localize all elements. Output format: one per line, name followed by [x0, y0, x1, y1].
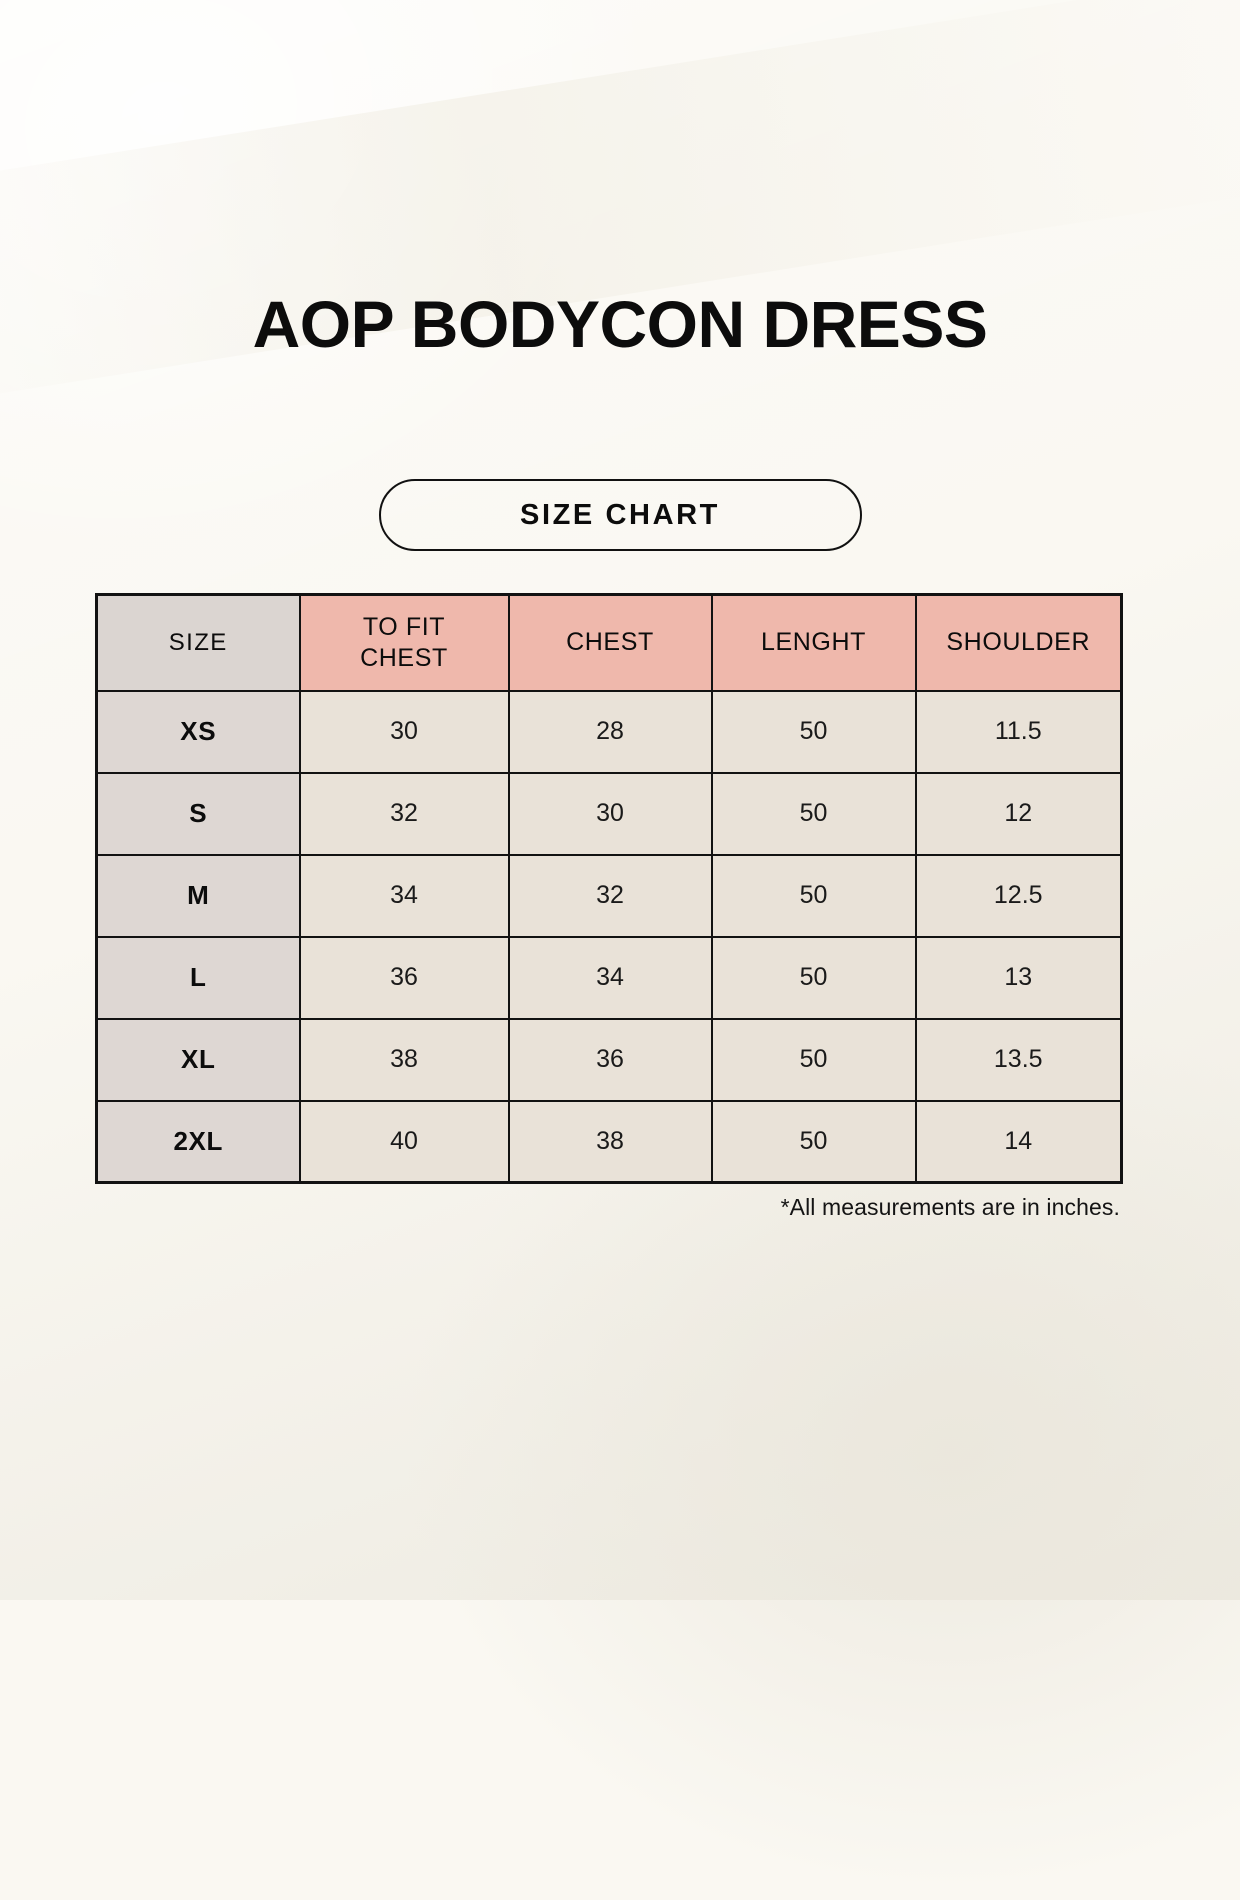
cell-lenght: 50	[712, 773, 916, 855]
cell-size: 2XL	[97, 1101, 300, 1183]
cell-to-fit-chest: 34	[300, 855, 509, 937]
cell-lenght: 50	[712, 1019, 916, 1101]
cell-chest: 30	[509, 773, 712, 855]
table-body: XS 30 28 50 11.5 S 32 30 50 12 M 34 32	[97, 691, 1122, 1183]
badge-container: SIZE CHART	[0, 479, 1240, 551]
cell-to-fit-chest: 32	[300, 773, 509, 855]
page-title: AOP BODYCON DRESS	[0, 288, 1240, 360]
cell-lenght: 50	[712, 691, 916, 773]
cell-lenght: 50	[712, 1101, 916, 1183]
cell-to-fit-chest: 38	[300, 1019, 509, 1101]
column-header-line-2: CHEST	[360, 644, 448, 672]
cell-size: S	[97, 773, 300, 855]
table-row: XS 30 28 50 11.5	[97, 691, 1122, 773]
cell-chest: 36	[509, 1019, 712, 1101]
column-header-chest: CHEST	[509, 595, 712, 691]
column-header-lenght: LENGHT	[712, 595, 916, 691]
size-table-container: SIZE TO FIT CHEST CHEST LENGHT SHOULDER …	[95, 593, 1120, 1184]
cell-size: XS	[97, 691, 300, 773]
cell-to-fit-chest: 40	[300, 1101, 509, 1183]
cell-shoulder: 12.5	[916, 855, 1122, 937]
cell-to-fit-chest: 30	[300, 691, 509, 773]
cell-size: XL	[97, 1019, 300, 1101]
cell-shoulder: 14	[916, 1101, 1122, 1183]
cell-shoulder: 11.5	[916, 691, 1122, 773]
column-header-size: SIZE	[97, 595, 300, 691]
cell-chest: 38	[509, 1101, 712, 1183]
cell-lenght: 50	[712, 855, 916, 937]
cell-shoulder: 13.5	[916, 1019, 1122, 1101]
table-row: 2XL 40 38 50 14	[97, 1101, 1122, 1183]
size-chart-badge: SIZE CHART	[379, 479, 862, 551]
cell-shoulder: 13	[916, 937, 1122, 1019]
table-row: L 36 34 50 13	[97, 937, 1122, 1019]
cell-to-fit-chest: 36	[300, 937, 509, 1019]
cell-chest: 28	[509, 691, 712, 773]
table-header-row: SIZE TO FIT CHEST CHEST LENGHT SHOULDER	[97, 595, 1122, 691]
measurements-footnote: *All measurements are in inches.	[95, 1194, 1120, 1221]
size-chart-page: AOP BODYCON DRESS SIZE CHART SIZE TO FIT…	[0, 0, 1240, 1600]
column-header-shoulder: SHOULDER	[916, 595, 1122, 691]
table-row: M 34 32 50 12.5	[97, 855, 1122, 937]
cell-size: M	[97, 855, 300, 937]
cell-size: L	[97, 937, 300, 1019]
cell-chest: 34	[509, 937, 712, 1019]
table-header: SIZE TO FIT CHEST CHEST LENGHT SHOULDER	[97, 595, 1122, 691]
size-table: SIZE TO FIT CHEST CHEST LENGHT SHOULDER …	[95, 593, 1123, 1184]
cell-shoulder: 12	[916, 773, 1122, 855]
column-header-to-fit-chest: TO FIT CHEST	[300, 595, 509, 691]
column-header-line-1: TO FIT	[363, 613, 445, 641]
table-row: XL 38 36 50 13.5	[97, 1019, 1122, 1101]
cell-chest: 32	[509, 855, 712, 937]
cell-lenght: 50	[712, 937, 916, 1019]
table-row: S 32 30 50 12	[97, 773, 1122, 855]
